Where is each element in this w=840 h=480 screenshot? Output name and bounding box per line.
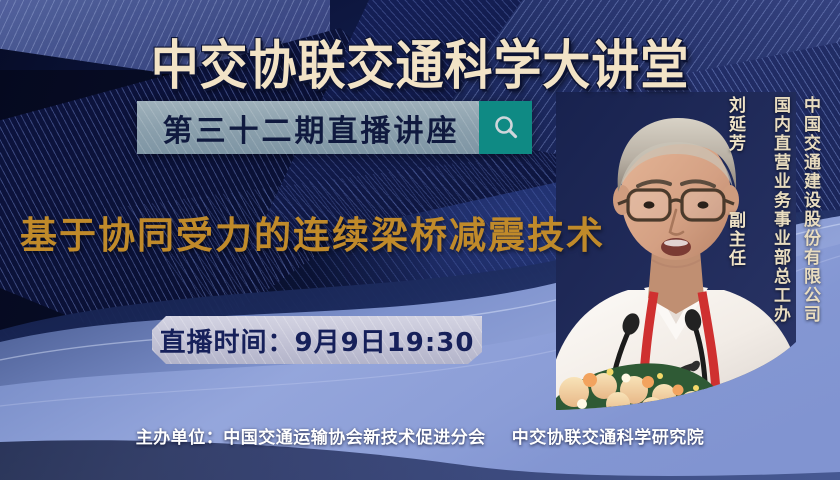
live-time-badge: 直播时间：9月9日19:30	[152, 316, 482, 364]
footer-organizers: 主办单位：中国交通运输协会新技术促进分会中交协联交通科学研究院	[0, 423, 840, 448]
speaker-title: 副主任	[725, 211, 745, 268]
speaker-department: 国内直营业务事业部总工办	[768, 96, 793, 324]
page-title: 中交协联交通科学大讲堂	[0, 22, 840, 99]
session-label: 第三十二期直播讲座	[137, 101, 479, 154]
footer-host: 主办单位：中国交通运输协会新技术促进分会	[136, 428, 486, 448]
session-bar: 第三十二期直播讲座	[137, 101, 532, 154]
search-icon	[491, 113, 521, 143]
speaker-organization: 中国交通建设股份有限公司	[798, 96, 823, 324]
footer-institute: 中交协联交通科学研究院	[512, 428, 705, 448]
search-button[interactable]	[479, 101, 532, 154]
webinar-poster: 中交协联交通科学大讲堂 第三十二期直播讲座 基于协同受力的连续梁桥减震技术 直播…	[0, 0, 840, 480]
speaker-name-title: 刘延芳 副主任	[723, 96, 748, 268]
lecture-title: 基于协同受力的连续梁桥减震技术	[20, 205, 600, 259]
speaker-name: 刘延芳	[725, 96, 745, 153]
